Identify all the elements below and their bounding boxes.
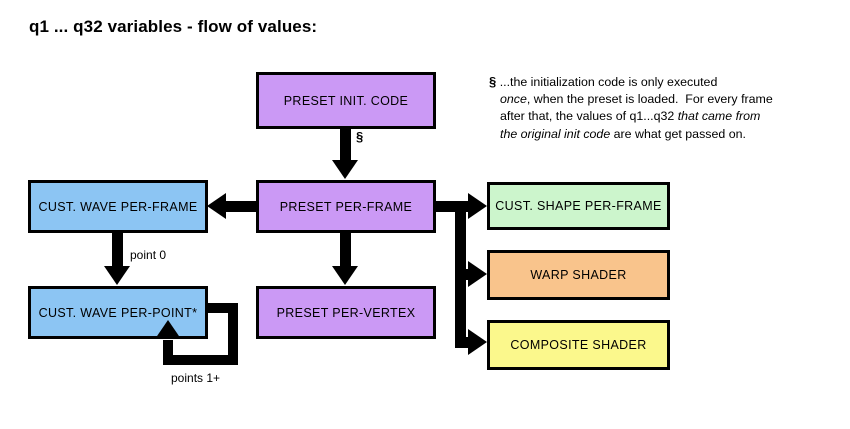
edge-per-frame-to-per-vertex-stem (340, 233, 351, 267)
node-composite-shader-label: COMPOSITE SHADER (510, 338, 646, 352)
edge-per-frame-to-wave-per-frame-stem (226, 201, 258, 212)
node-cust-shape-per-frame-label: CUST. SHAPE PER-FRAME (495, 199, 661, 213)
footnote-line-1: § ...the initialization code is only exe… (489, 73, 834, 91)
page-title: q1 ... q32 variables - flow of values: (29, 17, 317, 37)
edge-label-point-0: point 0 (130, 248, 166, 262)
footnote-line-3-text: after that, the values of q1...q32 (500, 109, 678, 123)
edge-wave-per-frame-to-wave-per-point-arrowhead (104, 266, 130, 285)
node-warp-shader[interactable]: WARP SHADER (487, 250, 670, 300)
node-cust-shape-per-frame[interactable]: CUST. SHAPE PER-FRAME (487, 182, 670, 230)
node-warp-shader-label: WARP SHADER (530, 268, 626, 282)
footnote-marker: § (489, 74, 496, 89)
node-preset-per-frame-label: PRESET PER-FRAME (280, 200, 412, 214)
node-cust-wave-per-frame[interactable]: CUST. WAVE PER-FRAME (28, 180, 208, 233)
edge-wave-per-frame-to-wave-per-point-stem (112, 233, 123, 267)
footnote-line-2: once, when the preset is loaded. For eve… (489, 91, 834, 108)
footnote-line-2-text: , when the preset is loaded. For every f… (527, 92, 773, 106)
edge-branch-warp-shader-arrowhead (468, 261, 487, 287)
node-cust-wave-per-point[interactable]: CUST. WAVE PER-POINT* (28, 286, 208, 339)
edge-label-dagger: § (356, 129, 363, 144)
node-preset-per-vertex-label: PRESET PER-VERTEX (277, 306, 416, 320)
node-cust-wave-per-frame-label: CUST. WAVE PER-FRAME (38, 200, 197, 214)
footnote-line-4-text: are what get passed on. (610, 127, 746, 141)
footnote-line-1-text: ...the initialization code is only execu… (500, 75, 718, 89)
footnote-line-3: after that, the values of q1...q32 that … (489, 108, 834, 125)
edge-init-to-per-frame-stem (340, 129, 351, 161)
node-preset-per-frame[interactable]: PRESET PER-FRAME (256, 180, 436, 233)
edge-per-frame-to-wave-per-frame-arrowhead (207, 193, 226, 219)
edge-self-loop-bottom-segment (163, 355, 238, 365)
footnote-block: § ...the initialization code is only exe… (489, 73, 834, 143)
edge-label-points-1-plus: points 1+ (171, 371, 220, 385)
node-cust-wave-per-point-label: CUST. WAVE PER-POINT* (39, 306, 198, 320)
node-composite-shader[interactable]: COMPOSITE SHADER (487, 320, 670, 370)
edge-per-frame-to-per-vertex-arrowhead (332, 266, 358, 285)
edge-branch-composite-shader-arrowhead (468, 329, 487, 355)
footnote-line-4: the original init code are what get pass… (489, 126, 834, 143)
edge-branch-shape-per-frame-arrowhead (468, 193, 487, 219)
node-preset-init-code-label: PRESET INIT. CODE (284, 94, 409, 108)
diagram-canvas: q1 ... q32 variables - flow of values: P… (0, 0, 850, 429)
footnote-italic-once: once (500, 92, 527, 106)
edge-init-to-per-frame-arrowhead (332, 160, 358, 179)
edge-self-loop-arrowhead (155, 320, 181, 339)
footnote-italic-original-init-code: the original init code (500, 127, 610, 141)
edge-self-loop-left-segment (163, 340, 173, 360)
node-preset-init-code[interactable]: PRESET INIT. CODE (256, 72, 436, 129)
footnote-italic-that-came-from: that came from (678, 109, 761, 123)
node-preset-per-vertex[interactable]: PRESET PER-VERTEX (256, 286, 436, 339)
